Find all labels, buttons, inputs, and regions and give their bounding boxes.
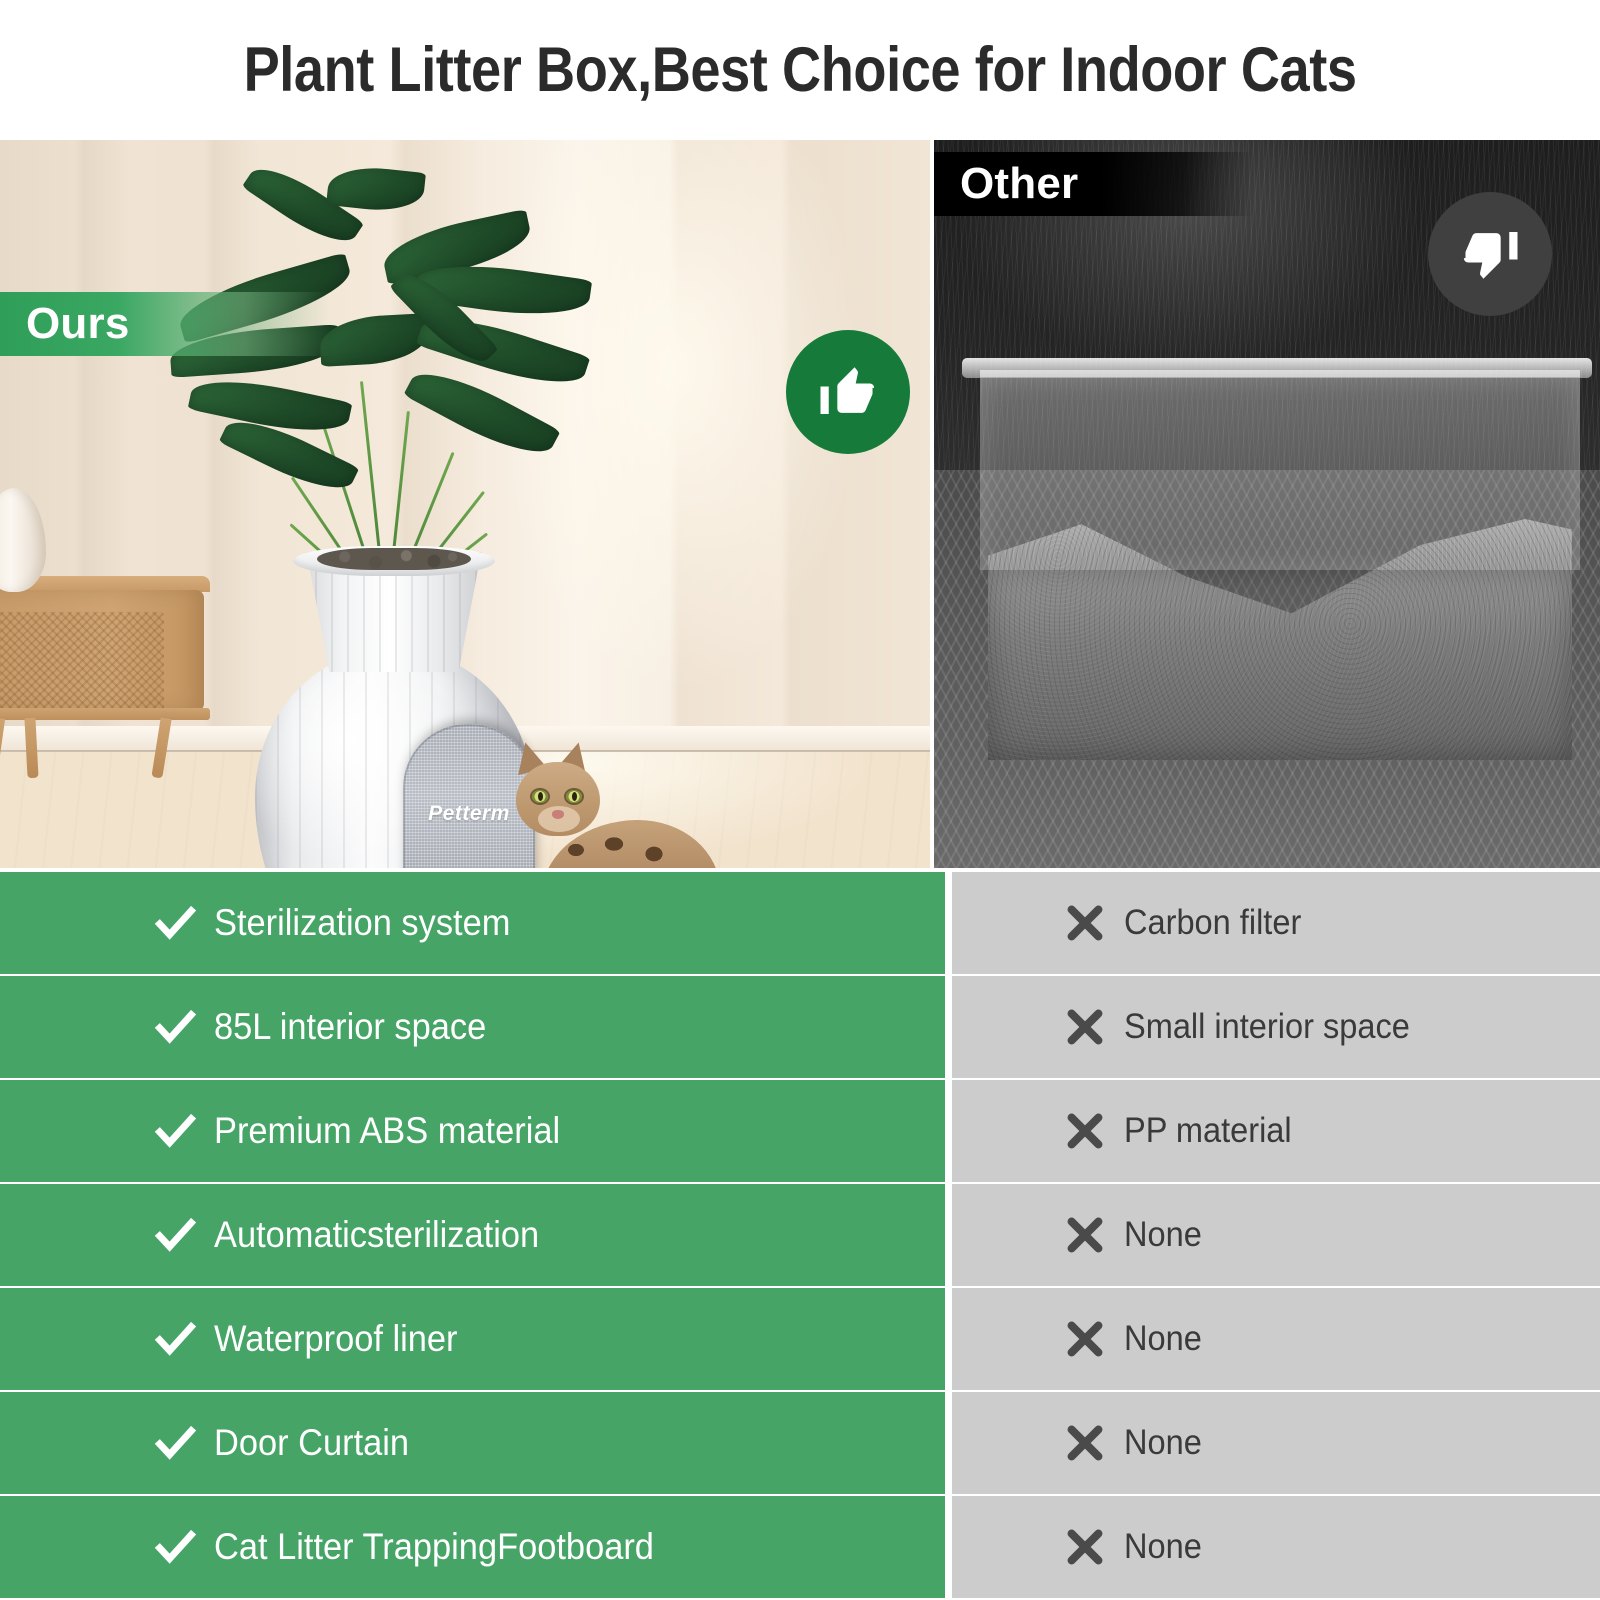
ours-cell: Door Curtain (0, 1392, 945, 1494)
table-row: Waterproof liner None (0, 1288, 1600, 1390)
cross-mark (1062, 1524, 1124, 1570)
ours-feature-label: Premium ABS material (214, 1110, 560, 1152)
plant-leaf (319, 313, 429, 367)
cross-mark (1062, 1420, 1124, 1466)
other-feature-label: Small interior space (1124, 1007, 1410, 1047)
room-scene: Petterm (0, 140, 930, 868)
check-mark (152, 1316, 214, 1362)
other-feature-label: None (1124, 1215, 1202, 1255)
other-feature-label: Carbon filter (1124, 903, 1301, 943)
planter-pebbles (317, 548, 471, 570)
thumbs-up-badge (786, 330, 910, 454)
ours-feature-label: Cat Litter TrappingFootboard (214, 1526, 654, 1568)
thumbs-down-icon (1457, 221, 1523, 287)
table-row: Door Curtain None (0, 1392, 1600, 1494)
ours-feature-label: Sterilization system (214, 902, 510, 944)
cat-eye (566, 790, 582, 803)
table-row: Cat Litter TrappingFootboard None (0, 1496, 1600, 1598)
column-header-ours: Ours (0, 292, 330, 356)
hero-photos: Petterm (0, 140, 1600, 868)
cross-mark (1062, 900, 1124, 946)
ours-feature-label: Waterproof liner (214, 1318, 458, 1360)
other-cell: None (952, 1392, 1600, 1494)
table-row: Premium ABS material PP material (0, 1080, 1600, 1182)
column-header-ours-label: Ours (26, 299, 130, 349)
sideboard-leg (24, 718, 38, 778)
check-icon (152, 1524, 198, 1570)
check-icon (152, 900, 198, 946)
cross-mark (1062, 1004, 1124, 1050)
cross-icon (1062, 1420, 1108, 1466)
ours-cell: Cat Litter TrappingFootboard (0, 1496, 945, 1598)
other-cell: Carbon filter (952, 872, 1600, 974)
cross-mark (1062, 1212, 1124, 1258)
table-row: Automaticsterilization None (0, 1184, 1600, 1286)
check-icon (152, 1316, 198, 1362)
ours-feature-label: 85L interior space (214, 1006, 486, 1048)
other-cell: Small interior space (952, 976, 1600, 1078)
ours-feature-label: Door Curtain (214, 1422, 409, 1464)
check-mark (152, 1004, 214, 1050)
cross-mark (1062, 1316, 1124, 1362)
check-icon (152, 1420, 198, 1466)
ours-cell: Sterilization system (0, 872, 945, 974)
litter-box-front-panel (988, 570, 1572, 760)
check-icon (152, 1212, 198, 1258)
comparison-infographic: Plant Litter Box,Best Choice for Indoor … (0, 0, 1600, 1600)
cross-icon (1062, 1524, 1108, 1570)
cat-nose (552, 810, 564, 819)
table-row: 85L interior space Small interior space (0, 976, 1600, 1078)
other-feature-label: None (1124, 1527, 1202, 1567)
cross-icon (1062, 1316, 1108, 1362)
column-header-other: Other (934, 152, 1254, 216)
table-row: Sterilization system Carbon filter (0, 872, 1600, 974)
litter-box-rim (962, 358, 1592, 378)
ours-cell: 85L interior space (0, 976, 945, 1078)
check-icon (152, 1004, 198, 1050)
check-mark (152, 1212, 214, 1258)
check-mark (152, 1420, 214, 1466)
rattan-texture (0, 612, 164, 716)
thumbs-up-icon (815, 359, 881, 425)
cross-icon (1062, 1212, 1108, 1258)
ours-cell: Automaticsterilization (0, 1184, 945, 1286)
check-icon (152, 1108, 198, 1154)
cross-icon (1062, 900, 1108, 946)
other-cell: None (952, 1496, 1600, 1598)
cat-eye (532, 790, 548, 803)
cross-icon (1062, 1004, 1108, 1050)
plastic-litter-box (980, 348, 1580, 778)
title-bar: Plant Litter Box,Best Choice for Indoor … (0, 0, 1600, 140)
ours-cell: Premium ABS material (0, 1080, 945, 1182)
other-cell: None (952, 1184, 1600, 1286)
ours-cell: Waterproof liner (0, 1288, 945, 1390)
column-header-other-label: Other (960, 159, 1078, 209)
cross-icon (1062, 1108, 1108, 1154)
other-feature-label: None (1124, 1423, 1202, 1463)
other-feature-label: PP material (1124, 1111, 1292, 1151)
ours-feature-label: Automaticsterilization (214, 1214, 539, 1256)
other-product-photo: Other (934, 140, 1600, 868)
check-mark (152, 900, 214, 946)
ours-product-photo: Petterm (0, 140, 930, 868)
check-mark (152, 1108, 214, 1154)
bengal-cat (488, 728, 818, 868)
check-mark (152, 1524, 214, 1570)
comparison-table: Sterilization system Carbon filter 85L i… (0, 872, 1600, 1600)
cross-mark (1062, 1108, 1124, 1154)
thumbs-down-badge (1428, 192, 1552, 316)
page-title: Plant Litter Box,Best Choice for Indoor … (244, 34, 1357, 106)
other-feature-label: None (1124, 1319, 1202, 1359)
other-cell: PP material (952, 1080, 1600, 1182)
other-cell: None (952, 1288, 1600, 1390)
